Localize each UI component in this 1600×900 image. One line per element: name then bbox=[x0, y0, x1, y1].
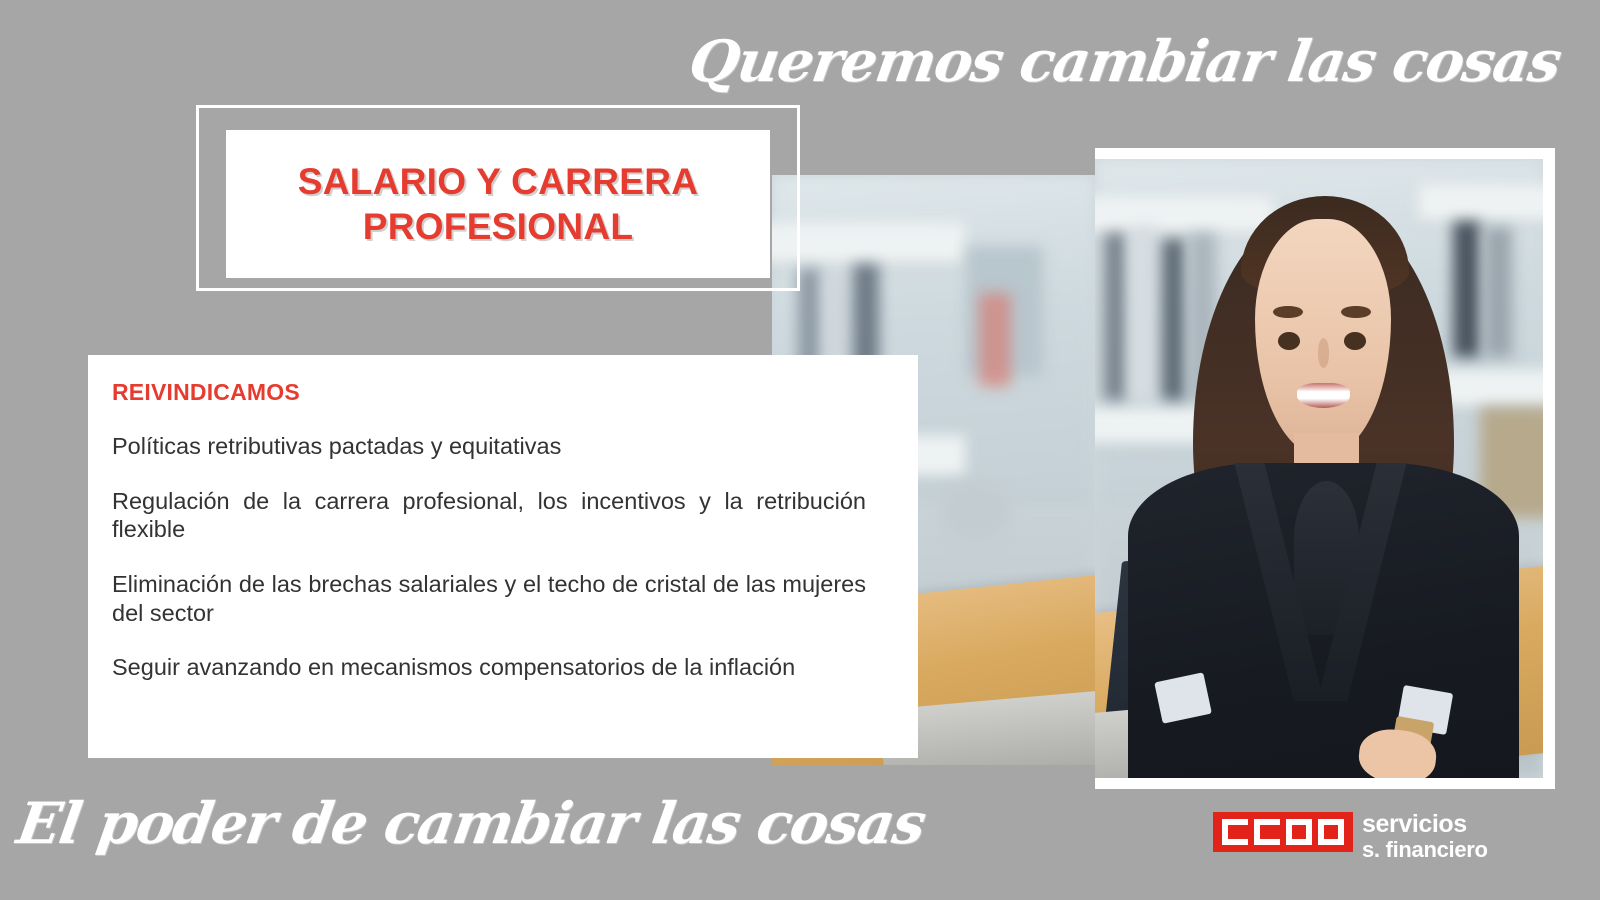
demand-item: Regulación de la carrera profesional, lo… bbox=[112, 487, 866, 544]
ccoo-glyph-o2 bbox=[1318, 819, 1344, 845]
demand-item: Políticas retributivas pactadas y equita… bbox=[112, 432, 866, 461]
page-title: SALARIO Y CARRERA PROFESIONAL bbox=[226, 159, 770, 249]
slide-canvas: SALARIO Y CARRERA PROFESIONAL REIVINDICA… bbox=[0, 0, 1600, 900]
ccoo-logo-wordmark: servicios s. financiero bbox=[1353, 812, 1488, 861]
title-card: SALARIO Y CARRERA PROFESIONAL bbox=[226, 130, 770, 278]
demands-heading: REIVINDICAMOS bbox=[112, 379, 866, 406]
ccoo-glyph-o1 bbox=[1286, 819, 1312, 845]
photo-office-woman bbox=[1095, 159, 1543, 778]
ccoo-glyph-c1 bbox=[1222, 819, 1248, 845]
slogan-bottom-left: El poder de cambiar las cosas bbox=[13, 790, 930, 857]
demands-card: REIVINDICAMOS Políticas retributivas pac… bbox=[88, 355, 918, 758]
ccoo-logo: servicios s. financiero bbox=[1213, 812, 1488, 861]
ccoo-logo-mark bbox=[1213, 812, 1353, 852]
logo-line-2: s. financiero bbox=[1362, 839, 1488, 861]
demand-item: Eliminación de las brechas salariales y … bbox=[112, 570, 866, 627]
logo-line-1: servicios bbox=[1362, 812, 1488, 837]
slogan-top-right: Queremos cambiar las cosas bbox=[685, 28, 1565, 95]
ccoo-glyph-c2 bbox=[1254, 819, 1280, 845]
demand-item: Seguir avanzando en mecanismos compensat… bbox=[112, 653, 866, 682]
